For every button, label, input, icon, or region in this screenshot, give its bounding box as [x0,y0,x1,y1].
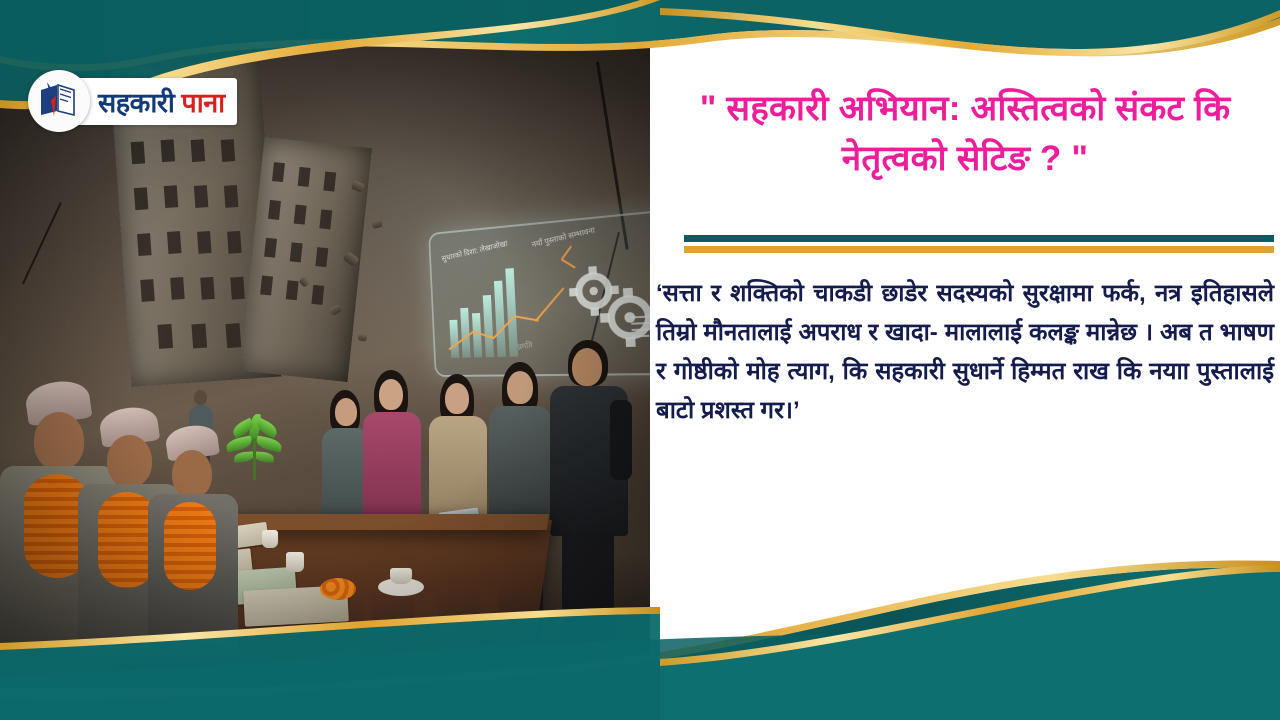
poster-canvas: सुधारको दिशा: लेखाजोखा नयाँ पुस्ताको सम्… [0,0,1280,720]
headline-title: " सहकारी अभियान: अस्तित्वको संकट कि नेतृ… [668,84,1262,183]
logo-word-secondary: पाना [181,83,224,120]
divider-bar-gold [684,246,1274,253]
article-content: " सहकारी अभियान: अस्तित्वको संकट कि नेतृ… [650,22,1280,652]
logo-mark [28,70,90,132]
brand-logo[interactable]: सहकारी पाना [28,70,237,132]
logo-word-primary: सहकारी [98,83,174,120]
quote-body-text: ‘सत्ता र शक्तिको चाकडी छाडेर सदस्यको सुर… [656,275,1274,431]
divider-bar-teal [684,235,1274,242]
section-divider [684,235,1274,253]
book-pen-icon [37,80,81,122]
